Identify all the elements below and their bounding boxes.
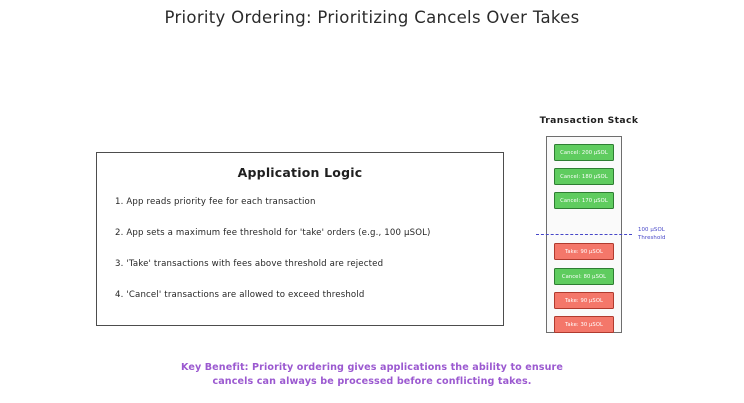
diagram-canvas: Priority Ordering: Prioritizing Cancels … [0,0,744,403]
page-title: Priority Ordering: Prioritizing Cancels … [0,8,744,27]
threshold-dashed-line [536,234,632,235]
logic-step-1: 1. App reads priority fee for each trans… [115,197,491,207]
transaction-row: Cancel: 180 µSOL [554,168,614,185]
caption-line-1: Key Benefit: Priority ordering gives app… [0,361,744,375]
application-logic-heading: Application Logic [97,165,503,180]
caption-line-2: cancels can always be processed before c… [0,375,744,389]
transaction-row: Take: 90 µSOL [554,292,614,309]
key-benefit-caption: Key Benefit: Priority ordering gives app… [0,361,744,389]
transaction-row: Take: 90 µSOL [554,243,614,260]
transaction-row: Cancel: 170 µSOL [554,192,614,209]
threshold-caption: Threshold [638,234,712,242]
transaction-row: Cancel: 80 µSOL [554,268,614,285]
threshold-label: 100 µSOL Threshold [638,226,712,242]
logic-step-2: 2. App sets a maximum fee threshold for … [115,228,491,238]
transaction-stack-heading: Transaction Stack [524,115,654,126]
transaction-row: Cancel: 200 µSOL [554,144,614,161]
application-logic-box: Application Logic 1. App reads priority … [96,152,504,326]
logic-step-4: 4. 'Cancel' transactions are allowed to … [115,290,491,300]
application-logic-list: 1. App reads priority fee for each trans… [115,197,491,321]
logic-step-3: 3. 'Take' transactions with fees above t… [115,259,491,269]
transaction-row: Take: 30 µSOL [554,316,614,333]
threshold-value: 100 µSOL [638,226,712,234]
